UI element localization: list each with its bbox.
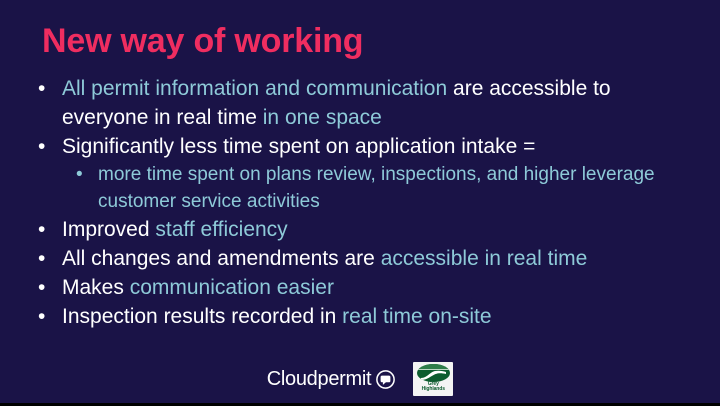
bullet-item: •Inspection results recorded in real tim…	[38, 302, 688, 331]
grey-highlands-crest-icon	[417, 364, 450, 382]
bullet-marker-icon: •	[38, 273, 62, 302]
bullet-text: All permit information and communication…	[62, 74, 688, 132]
slide-title: New way of working	[42, 24, 363, 58]
bullet-text-segment: accessible in real time	[381, 247, 588, 270]
bullet-marker-icon: •	[38, 215, 62, 244]
bullet-text-segment: All permit information and communication	[62, 77, 453, 100]
grey-highlands-label-line2: Highlands	[422, 387, 445, 392]
bullet-marker-icon: •	[76, 161, 98, 188]
cloudpermit-wordmark: Cloudpermit	[267, 368, 372, 391]
bullet-item: •more time spent on plans review, inspec…	[76, 161, 688, 215]
bullet-item: •All changes and amendments are accessib…	[38, 244, 688, 273]
bullet-text-segment: more time spent on plans review, inspect…	[98, 164, 655, 212]
bullet-text-segment: All changes and amendments are	[62, 247, 381, 270]
bullet-marker-icon: •	[38, 302, 62, 331]
bullet-list: •All permit information and communicatio…	[38, 74, 688, 331]
bullet-text-segment: Improved	[62, 218, 155, 241]
bullet-item: •Improved staff efficiency	[38, 215, 688, 244]
bullet-text: Improved staff efficiency	[62, 215, 688, 244]
bullet-text: Inspection results recorded in real time…	[62, 302, 688, 331]
bullet-text-segment: in one space	[263, 106, 382, 129]
cloudpermit-logo: Cloudpermit	[267, 368, 396, 391]
presentation-slide: New way of working •All permit informati…	[0, 0, 720, 406]
bullet-marker-icon: •	[38, 74, 62, 103]
bullet-text-segment: communication easier	[130, 276, 334, 299]
speech-bubble-icon	[376, 370, 395, 389]
bullet-text: Significantly less time spent on applica…	[62, 132, 688, 161]
bullet-marker-icon: •	[38, 244, 62, 273]
bullet-text-segment: Inspection results recorded in	[62, 305, 342, 328]
bullet-text-segment: staff efficiency	[155, 218, 287, 241]
bullet-text-segment: Significantly less time spent on applica…	[62, 135, 535, 158]
bullet-marker-icon: •	[38, 132, 62, 161]
bullet-text: more time spent on plans review, inspect…	[98, 161, 688, 215]
bullet-text-segment: Makes	[62, 276, 130, 299]
grey-highlands-logo: Grey Highlands	[413, 362, 453, 396]
bullet-item: •Makes communication easier	[38, 273, 688, 302]
bullet-item: •All permit information and communicatio…	[38, 74, 688, 132]
bullet-text-segment: real time on-site	[342, 305, 491, 328]
bullet-text: Makes communication easier	[62, 273, 688, 302]
slide-footer: Cloudpermit Grey Highlands	[0, 362, 720, 396]
bullet-item: •Significantly less time spent on applic…	[38, 132, 688, 161]
bullet-text: All changes and amendments are accessibl…	[62, 244, 688, 273]
